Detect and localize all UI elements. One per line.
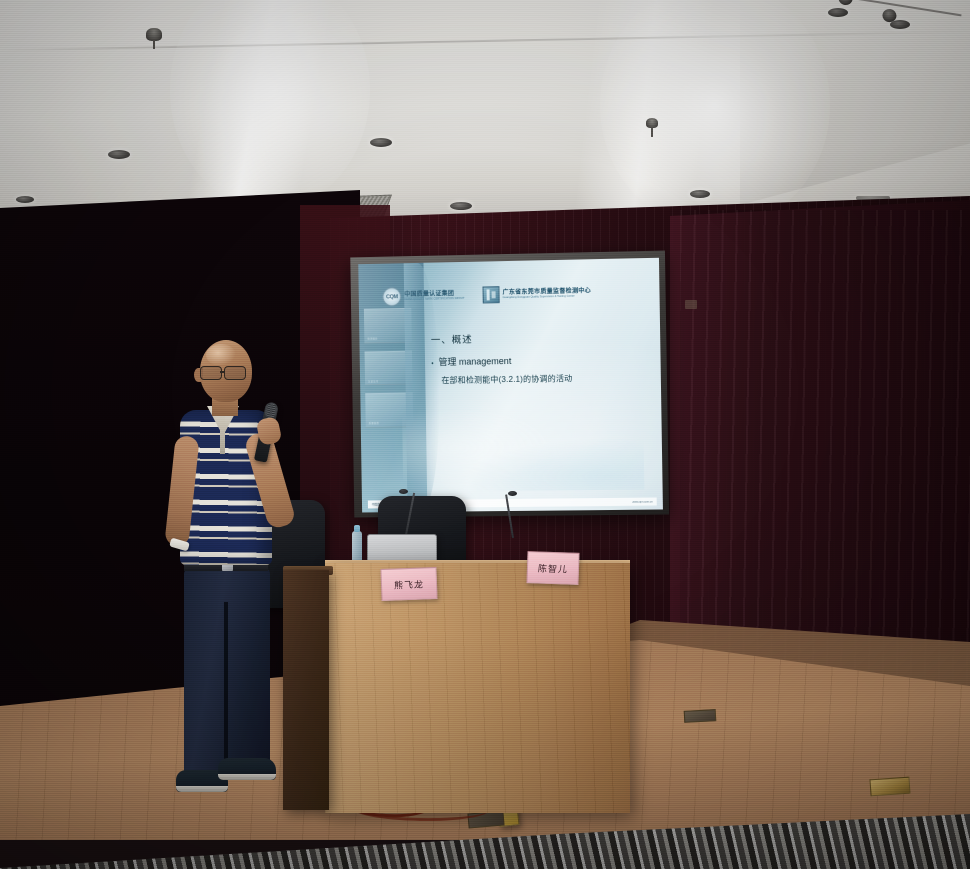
table-microphone-head-icon: [508, 491, 517, 496]
cqm-logo-text: 中国质量认证集团 CHINA QUALITY MARK CERTIFICATIO…: [404, 291, 464, 301]
floor-outlet-cover: [869, 777, 910, 797]
recessed-downlight-icon: [370, 138, 392, 147]
projection-screen: 检测服务 认证认可 质量监督 CQM 中国质量认证集团: [350, 251, 669, 518]
presentation-slide: 检测服务 认证认可 质量监督 CQM 中国质量认证集团: [358, 258, 663, 513]
polo-placket: [220, 416, 225, 454]
eyeglasses-icon: [198, 366, 252, 379]
recessed-downlight-icon: [690, 190, 710, 198]
wall-fixture-icon: [685, 300, 697, 309]
ceiling: [0, 0, 970, 232]
presenter-shoe-right: [218, 758, 276, 780]
slide-bullet-item: 管理 management: [431, 352, 645, 369]
slide-body: 一、概述 管理 management 在部和检测能中(3.2.1)的协调的活动: [431, 329, 646, 387]
presenter-leg-gap: [224, 602, 228, 780]
projection-screen-surface: 检测服务 认证认可 质量监督 CQM 中国质量认证集团: [358, 258, 663, 513]
head-table: [325, 563, 630, 813]
spot-lamp-icon: [646, 118, 658, 128]
floor-outlet-cover: [684, 709, 717, 723]
filmstrip-caption: 检测服务: [367, 336, 409, 341]
slide-background-graphic: [402, 374, 645, 492]
dongguan-logo-icon: [483, 286, 500, 303]
dongguan-logo-text: 广东省东莞市质量监督检测中心 Guangdong Dongguan Qualit…: [503, 289, 592, 300]
name-card-right: 陈智儿: [526, 551, 579, 585]
logo-cqm-group: CQM 中国质量认证集团 CHINA QUALITY MARK CERTIFIC…: [382, 286, 464, 307]
slide-heading: 一、概述: [431, 329, 645, 347]
dongguan-name-en: Guangdong Dongguan Quality Supervision &…: [503, 295, 591, 299]
conference-photo: 检测服务 认证认可 质量监督 CQM 中国质量认证集团: [0, 0, 970, 869]
table-microphone-head-icon: [399, 489, 408, 494]
cqm-name-en: CHINA QUALITY MARK CERTIFICATION GROUP: [404, 297, 464, 301]
slide-logo-header: CQM 中国质量认证集团 CHINA QUALITY MARK CERTIFIC…: [382, 273, 647, 316]
name-card-left: 熊飞龙: [380, 567, 437, 601]
spot-lamp-icon: [146, 28, 162, 41]
recessed-downlight-icon: [108, 150, 130, 159]
track-light-head-icon: [838, 0, 854, 6]
cqm-logo-icon: CQM: [382, 287, 401, 306]
logo-dongguan-group: 广东省东莞市质量监督检测中心 Guangdong Dongguan Qualit…: [483, 285, 592, 304]
presenter: [160, 340, 295, 835]
ceiling-light-glow: [170, 0, 370, 210]
recessed-downlight-icon: [16, 196, 34, 203]
track-light-head-icon: [882, 8, 898, 23]
name-card-right-text: 陈智儿: [537, 561, 568, 575]
slide-footer-right: www.cqm.com.cn: [632, 500, 652, 503]
recessed-downlight-icon: [450, 202, 472, 210]
presenter-head-highlight: [206, 344, 236, 366]
name-card-left-text: 熊飞龙: [394, 577, 424, 591]
